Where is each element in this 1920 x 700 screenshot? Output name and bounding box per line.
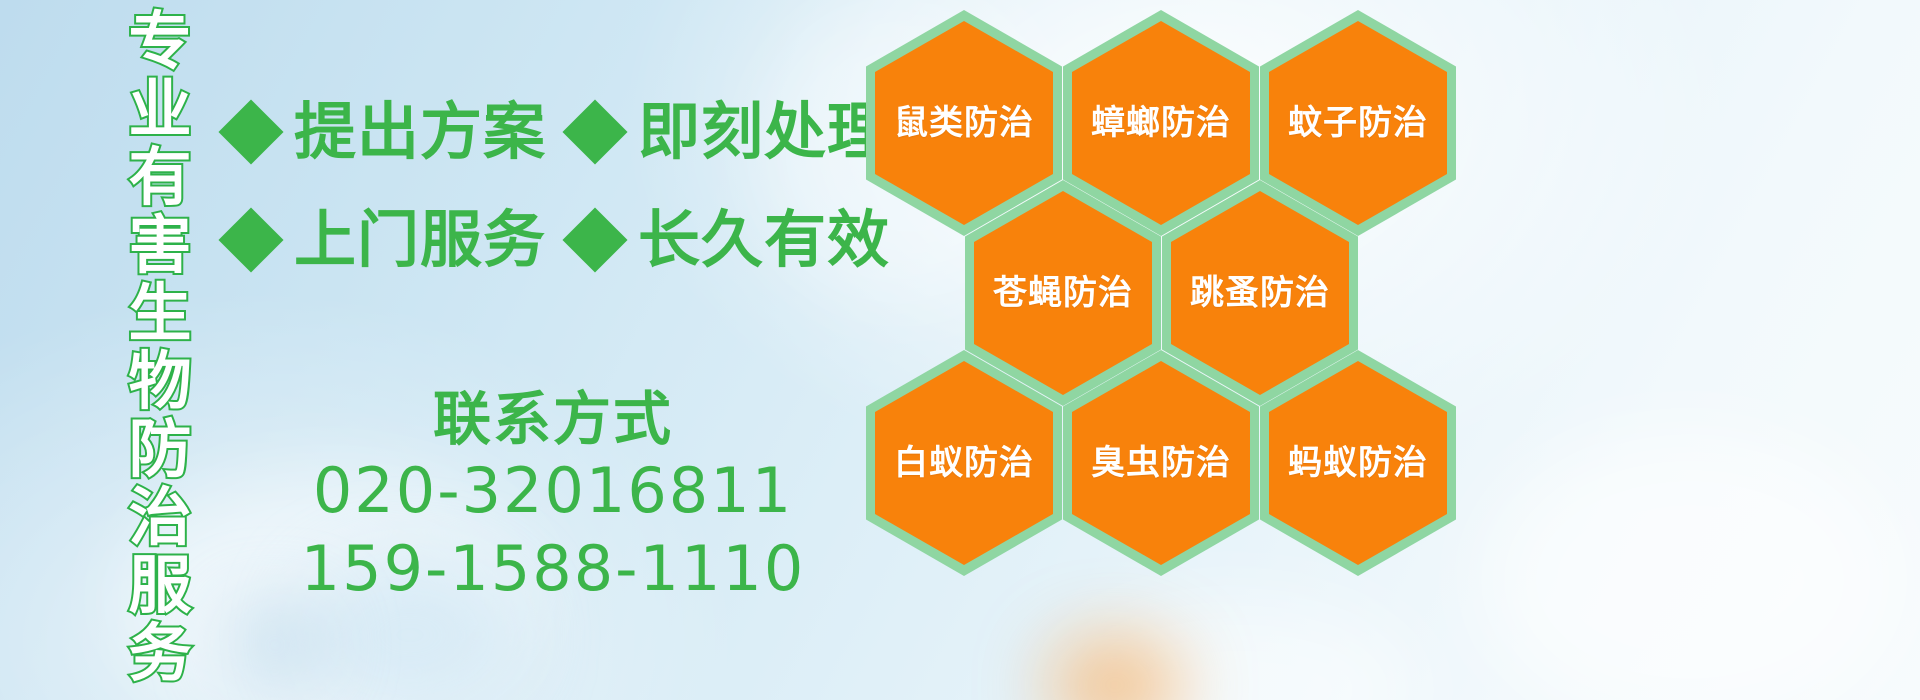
feature-row: 上门服务 长久有效 — [228, 186, 868, 294]
contact-phone-mobile[interactable]: 159-1588-1110 — [228, 530, 878, 608]
service-hexagon-bedbug[interactable]: 臭虫防治 — [1063, 350, 1259, 576]
feature-label: 提出方案 — [294, 101, 546, 163]
service-label: 跳蚤防治 — [1190, 274, 1330, 312]
feature-item: 长久有效 — [572, 209, 890, 271]
feature-item: 上门服务 — [228, 209, 546, 271]
service-label: 白蚁防治 — [894, 444, 1034, 482]
service-label: 鼠类防治 — [894, 104, 1034, 142]
contact-title: 联系方式 — [228, 386, 878, 452]
service-label: 蟑螂防治 — [1091, 104, 1231, 142]
feature-label: 上门服务 — [294, 209, 546, 271]
service-hexagon-ant[interactable]: 蚂蚁防治 — [1260, 350, 1456, 576]
vertical-slogan: 专 业 有 害 生 物 防 治 服 务 — [104, 8, 216, 698]
service-honeycomb: 鼠类防治 蟑螂防治 蚊子防治 苍蝇防治 跳蚤防治 白蚁防治 — [858, 0, 1478, 700]
pest-control-banner: 专 业 有 害 生 物 防 治 服 务 提出方案 即刻处理 上门服务 — [0, 0, 1920, 700]
diamond-bullet-icon — [562, 207, 627, 272]
service-hexagon-termite[interactable]: 白蚁防治 — [866, 350, 1062, 576]
vertical-slogan-char: 防 — [129, 416, 192, 484]
contact-block: 联系方式 020-32016811 159-1588-1110 — [228, 386, 878, 608]
diamond-bullet-icon — [218, 99, 283, 164]
vertical-slogan-char: 治 — [129, 484, 192, 552]
vertical-slogan-char: 务 — [129, 620, 192, 688]
feature-item: 提出方案 — [228, 101, 546, 163]
vertical-slogan-char: 服 — [129, 552, 192, 620]
feature-list: 提出方案 即刻处理 上门服务 长久有效 — [228, 78, 868, 294]
service-label: 蚂蚁防治 — [1288, 444, 1428, 482]
vertical-slogan-char: 业 — [129, 76, 192, 144]
background-bokeh-shape — [230, 610, 320, 680]
vertical-slogan-char: 害 — [129, 212, 192, 280]
feature-label: 即刻处理 — [638, 101, 890, 163]
background-bokeh-shape — [1480, 430, 1900, 700]
service-label: 蚊子防治 — [1288, 104, 1428, 142]
diamond-bullet-icon — [218, 207, 283, 272]
service-label: 臭虫防治 — [1091, 444, 1231, 482]
feature-label: 长久有效 — [638, 209, 890, 271]
feature-row: 提出方案 即刻处理 — [228, 78, 868, 186]
diamond-bullet-icon — [562, 99, 627, 164]
service-label: 苍蝇防治 — [993, 274, 1133, 312]
vertical-slogan-char: 物 — [129, 348, 192, 416]
vertical-slogan-char: 生 — [129, 280, 192, 348]
vertical-slogan-char: 专 — [129, 8, 192, 76]
feature-item: 即刻处理 — [572, 101, 890, 163]
contact-phone-landline[interactable]: 020-32016811 — [228, 452, 878, 530]
vertical-slogan-char: 有 — [129, 144, 192, 212]
